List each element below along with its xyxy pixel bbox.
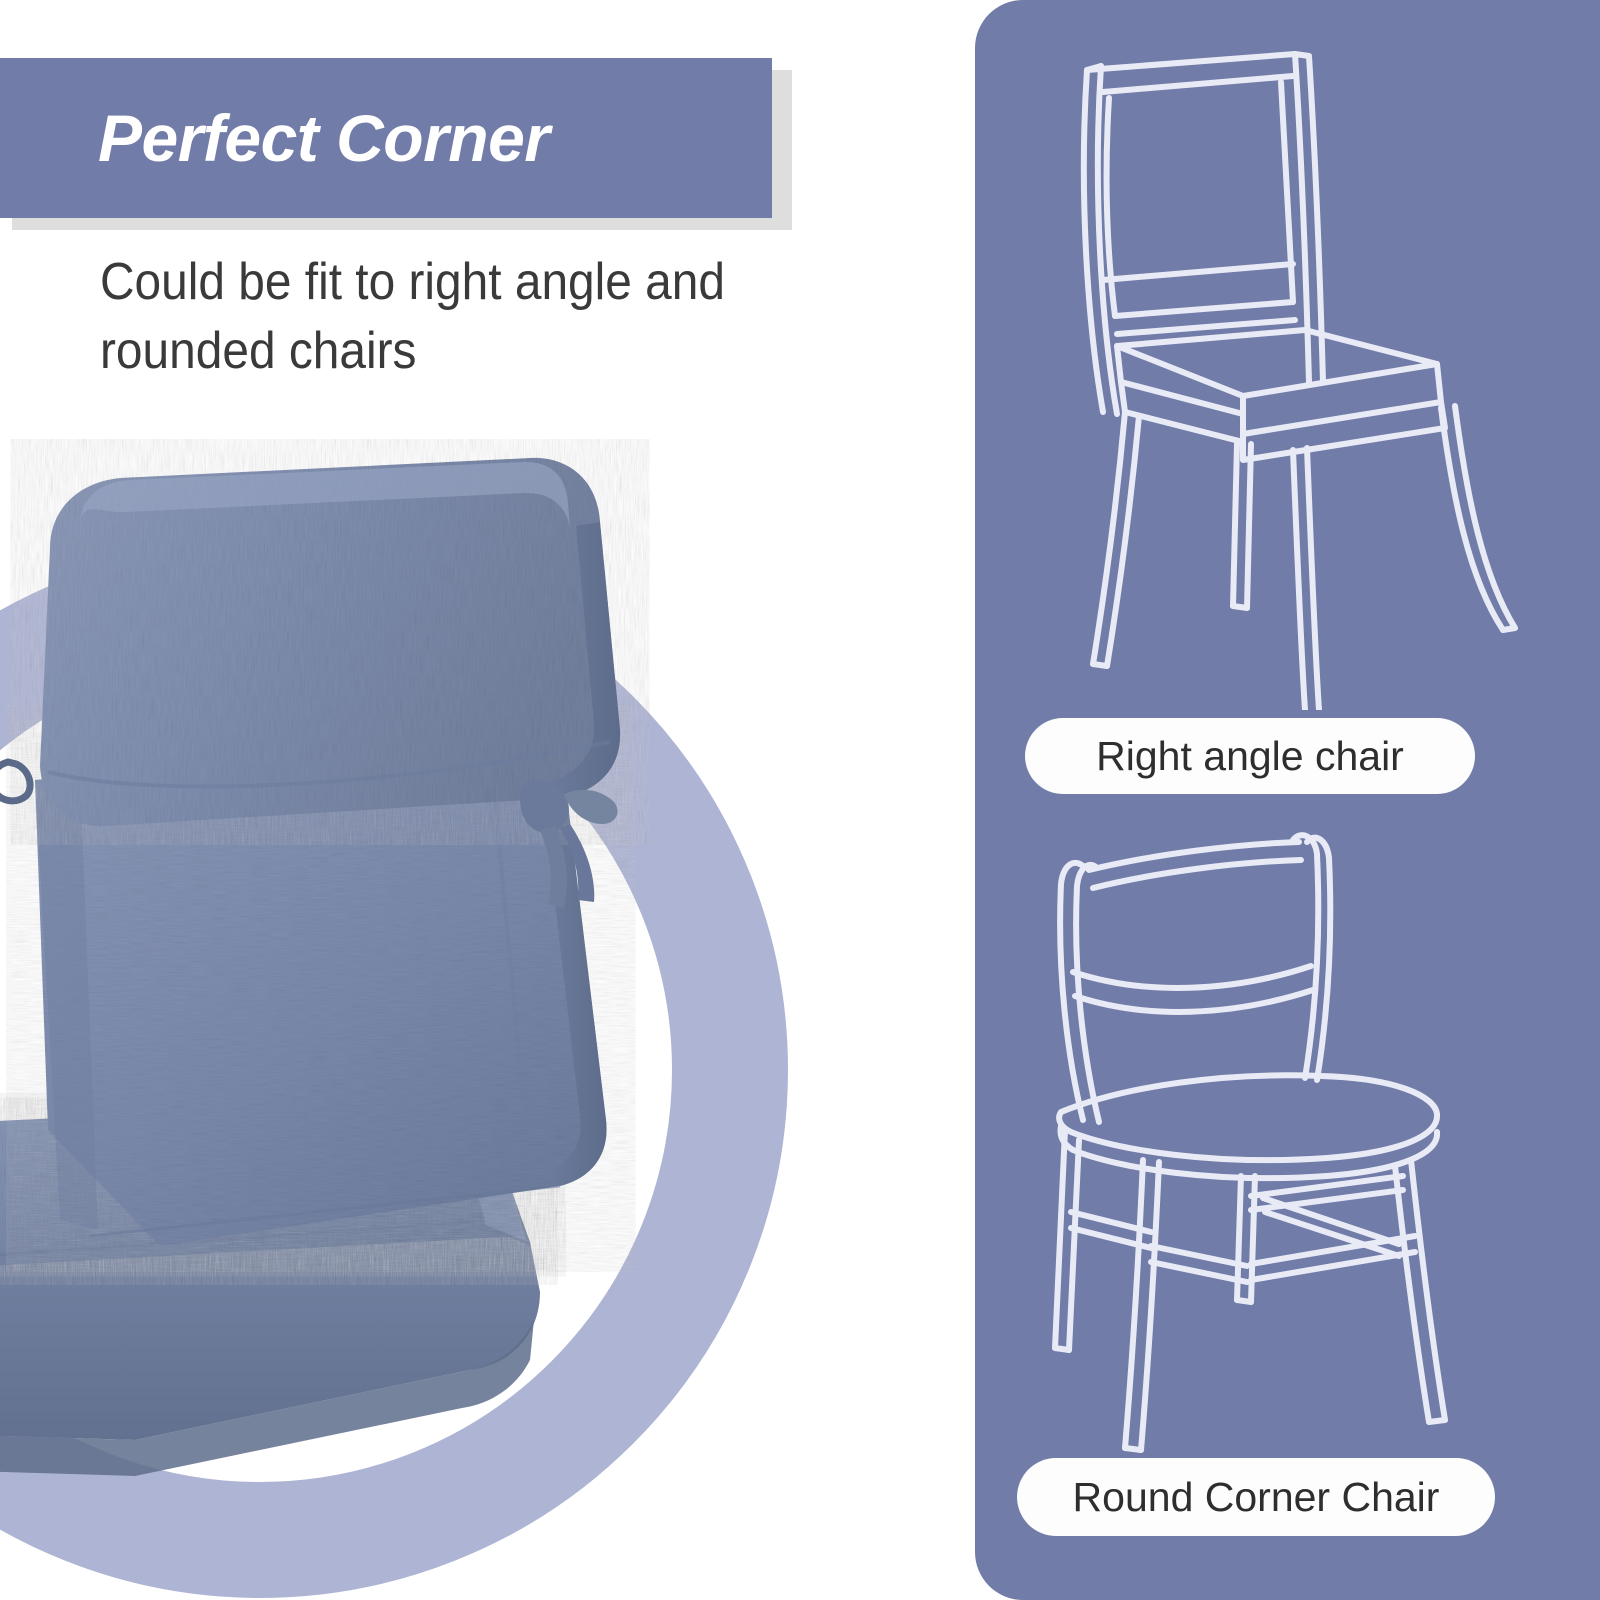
chair-label-right-angle-text: Right angle chair	[1096, 733, 1404, 780]
chair-types-panel: Right angle chair	[975, 0, 1600, 1600]
subtitle-line-1: Could be fit to right angle and	[100, 248, 864, 317]
page-title: Perfect Corner	[98, 100, 550, 176]
back-pillow	[40, 458, 620, 826]
subtitle-line-2: rounded chairs	[100, 317, 864, 386]
chair-label-round-corner-text: Round Corner Chair	[1073, 1474, 1440, 1521]
chair-label-round-corner[interactable]: Round Corner Chair	[1017, 1458, 1495, 1536]
subtitle-text: Could be fit to right angle and rounded …	[100, 248, 864, 385]
round-corner-chair-illustration	[975, 800, 1600, 1460]
chair-label-right-angle[interactable]: Right angle chair	[1025, 718, 1475, 794]
right-angle-chair-illustration	[975, 30, 1600, 710]
product-cushion-image	[0, 430, 690, 1550]
title-banner: Perfect Corner	[0, 58, 772, 218]
left-content-column: Perfect Corner Could be fit to right ang…	[0, 0, 975, 1600]
